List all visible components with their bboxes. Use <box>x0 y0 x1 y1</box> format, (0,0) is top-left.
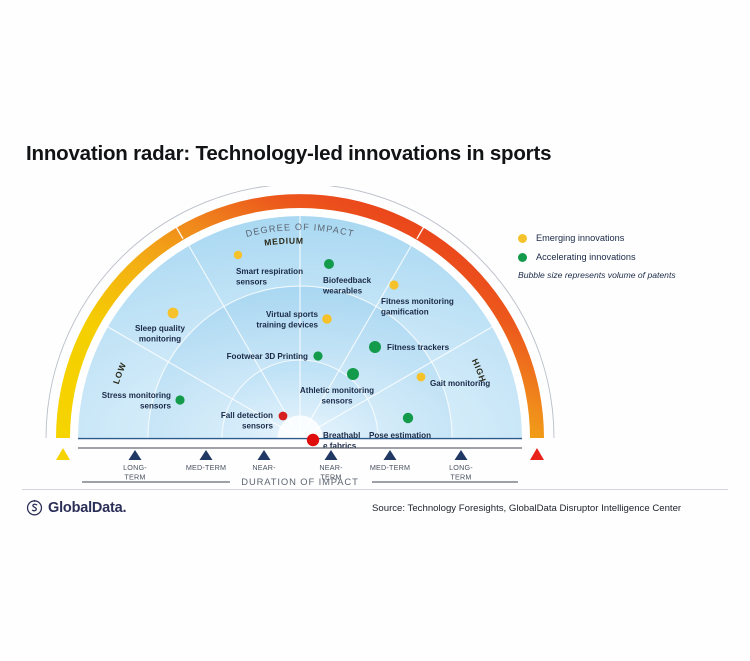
radar-bubble-marker[interactable] <box>369 341 381 353</box>
radar-bubble-label: Fitness trackers <box>387 343 450 352</box>
duration-of-impact-caption: DURATION OF IMPACT <box>241 476 358 487</box>
circle-icon <box>518 253 527 262</box>
radar-bubble-marker[interactable] <box>324 259 334 269</box>
axis-tick-triangle-icon <box>325 450 338 460</box>
axis-tick-triangle-icon <box>200 450 213 460</box>
duration-axis-tick: LONG-TERM <box>123 450 147 482</box>
page-title: Innovation radar: Technology-led innovat… <box>26 142 706 166</box>
axis-tick-label: MED-TERM <box>370 463 410 472</box>
duration-axis-tick: MED-TERM <box>370 450 410 472</box>
radar-bubble-marker[interactable] <box>389 280 398 289</box>
legend-item-accelerating[interactable]: Accelerating innovations <box>518 251 733 263</box>
axis-tick-triangle-icon <box>258 450 271 460</box>
radar-svg: DEGREE OF IMPACT LOW MEDIUM HIGH Smart r… <box>40 186 560 491</box>
globaldata-logo: GlobalData. <box>26 499 126 516</box>
radar-bubble-marker[interactable] <box>234 251 242 259</box>
duration-axis-tick: MED-TERM <box>186 450 226 472</box>
axis-tick-triangle-icon <box>455 450 468 460</box>
radar-bubble-marker[interactable] <box>403 413 413 423</box>
footer-divider <box>22 489 728 490</box>
globaldata-logo-text: GlobalData. <box>48 500 126 516</box>
impact-start-marker-triangle <box>56 448 70 460</box>
impact-end-marker-triangle <box>530 448 544 460</box>
legend-item-emerging[interactable]: Emerging innovations <box>518 232 733 244</box>
radar-bubble-label: Breathable fabrics <box>323 431 360 450</box>
chart-legend: Emerging innovations Accelerating innova… <box>518 232 733 280</box>
duration-axis-tick: NEAR- <box>252 450 276 472</box>
axis-tick-label: LONG-TERM <box>123 463 147 482</box>
axis-tick-triangle-icon <box>384 450 397 460</box>
radar-bubble-marker[interactable] <box>322 314 332 324</box>
radar-bubble-marker[interactable] <box>307 434 319 446</box>
axis-tick-label: NEAR- <box>252 463 276 472</box>
radar-bubble-marker[interactable] <box>347 368 359 380</box>
radar-bubble-label: Footwear 3D Printing <box>227 352 308 361</box>
radar-bubble-marker[interactable] <box>175 395 184 404</box>
chart-canvas: Innovation radar: Technology-led innovat… <box>0 0 750 661</box>
innovation-radar-chart: DEGREE OF IMPACT LOW MEDIUM HIGH Smart r… <box>40 186 560 491</box>
radar-bubble-marker[interactable] <box>168 308 179 319</box>
radar-bubble-label: Virtual sportstraining devices <box>256 310 318 329</box>
axis-tick-label: MED-TERM <box>186 463 226 472</box>
radar-bubble-marker[interactable] <box>313 351 322 360</box>
circle-icon <box>518 234 527 243</box>
duration-axis-tick: LONG-TERM <box>449 450 473 482</box>
radar-bubble-label: Sleep qualitymonitoring <box>135 324 185 343</box>
radar-bubble-marker[interactable] <box>417 373 426 382</box>
axis-tick-triangle-icon <box>129 450 142 460</box>
radar-bubble-label: Gait monitoring <box>430 379 490 388</box>
radar-bubble-marker[interactable] <box>279 412 288 421</box>
legend-item-label: Accelerating innovations <box>536 252 636 262</box>
radar-bubble-label: Pose estimation <box>369 431 431 440</box>
globaldata-circle-icon <box>26 499 43 516</box>
source-attribution: Source: Technology Foresights, GlobalDat… <box>372 503 681 514</box>
legend-note: Bubble size represents volume of patents <box>518 270 733 280</box>
legend-item-label: Emerging innovations <box>536 233 624 243</box>
axis-tick-label: LONG-TERM <box>449 463 473 482</box>
